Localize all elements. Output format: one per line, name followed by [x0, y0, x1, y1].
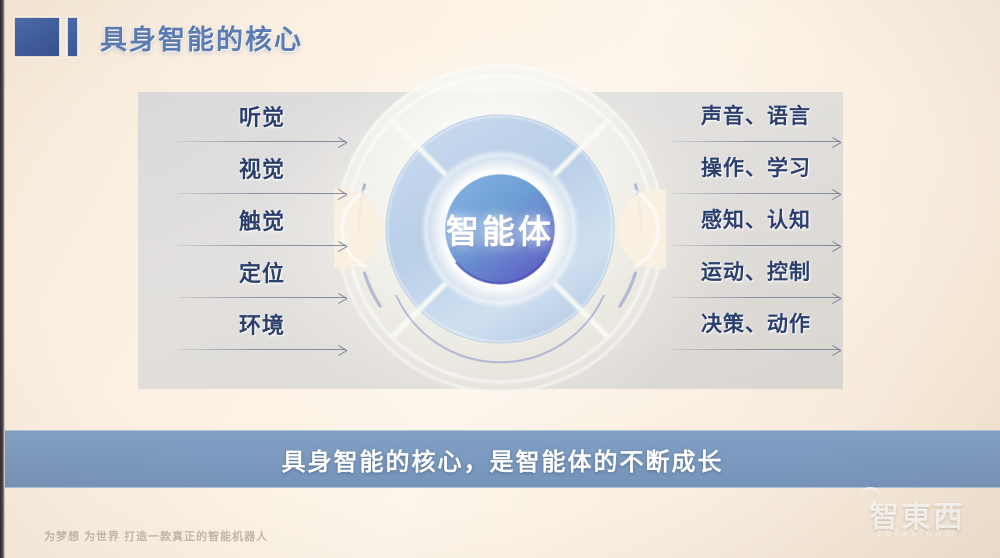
output-label: 操作、学习 — [672, 152, 840, 182]
input-label: 听觉 — [178, 100, 346, 132]
output-label: 运动、控制 — [672, 256, 840, 286]
slide-canvas: 具身智能的核心 听觉 视觉 触觉 定位 环境 声音、语言 — [0, 0, 1000, 558]
title-square-decoration — [14, 17, 60, 57]
agent-circle-diagram: 智能体 — [334, 63, 666, 395]
summary-banner: 具身智能的核心，是智能体的不断成长 — [5, 430, 1000, 488]
circle-diagram-svg — [334, 63, 666, 395]
outputs-column: 声音、语言 操作、学习 感知、认知 运动、控制 决策、动作 — [672, 100, 840, 360]
summary-banner-text: 具身智能的核心，是智能体的不断成长 — [282, 442, 724, 477]
arrow-right-icon — [672, 240, 840, 252]
output-label: 决策、动作 — [672, 308, 840, 338]
arrow-right-icon — [672, 292, 840, 304]
page-title: 具身智能的核心 — [14, 17, 303, 57]
output-item-4: 决策、动作 — [672, 308, 840, 360]
input-item-4: 环境 — [178, 308, 346, 360]
footer-tagline: 为梦想 为世界 打造一款真正的智能机器人 — [44, 528, 268, 544]
arrow-right-icon — [672, 344, 840, 356]
input-label: 环境 — [178, 308, 346, 340]
output-item-3: 运动、控制 — [672, 256, 840, 308]
input-label: 触觉 — [178, 204, 346, 236]
arrow-right-icon — [178, 136, 346, 148]
input-item-2: 触觉 — [178, 204, 346, 256]
input-label: 定位 — [178, 256, 346, 288]
title-bar-decoration — [67, 17, 78, 57]
output-label: 声音、语言 — [672, 100, 840, 130]
watermark-antenna-icon — [860, 487, 880, 498]
page-title-text: 具身智能的核心 — [100, 18, 303, 57]
watermark-domain-text: zhidx.com — [846, 528, 988, 539]
output-item-0: 声音、语言 — [672, 100, 840, 152]
output-item-2: 感知、认知 — [672, 204, 840, 256]
output-item-1: 操作、学习 — [672, 152, 840, 204]
arrow-right-icon — [178, 188, 346, 200]
arrow-right-icon — [178, 292, 346, 304]
arrow-right-icon — [178, 344, 346, 356]
output-label: 感知、认知 — [672, 204, 840, 234]
arrow-right-icon — [178, 240, 346, 252]
inputs-column: 听觉 视觉 触觉 定位 环境 — [178, 100, 346, 360]
watermark-logo-text: 智東西 — [846, 492, 988, 536]
input-item-3: 定位 — [178, 256, 346, 308]
arrow-right-icon — [672, 188, 840, 200]
watermark-zhidx: 智東西 zhidx.com — [846, 488, 988, 550]
input-item-0: 听觉 — [178, 100, 346, 152]
input-item-1: 视觉 — [178, 152, 346, 204]
arrow-right-icon — [672, 136, 840, 148]
input-label: 视觉 — [178, 152, 346, 184]
